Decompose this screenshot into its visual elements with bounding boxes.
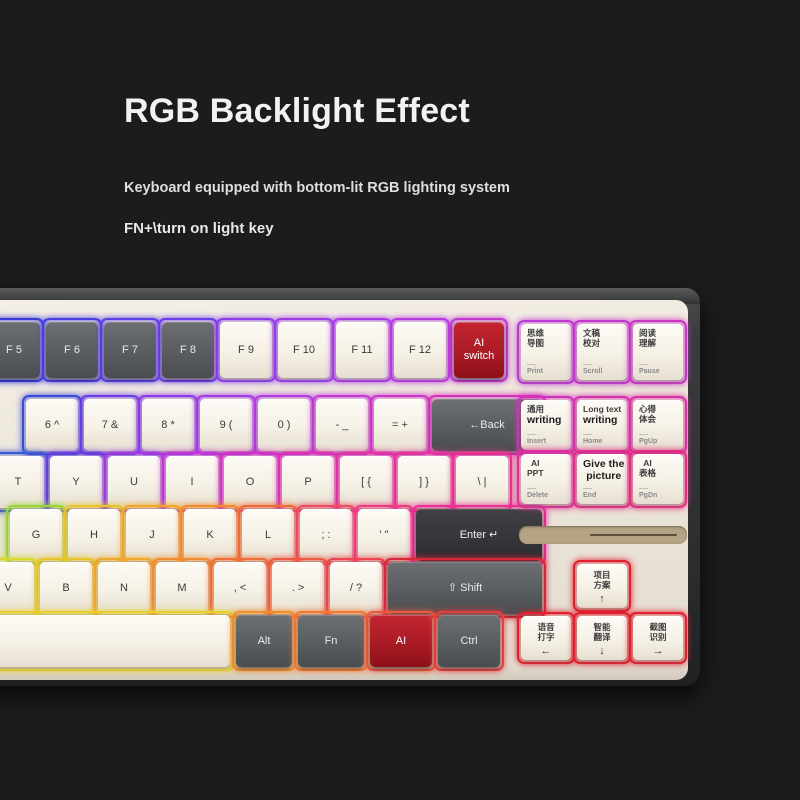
key-arrow-down-cn: 智能翻译 <box>593 623 610 642</box>
key-b[interactable]: B <box>40 562 92 614</box>
key-experience-divider <box>639 434 648 435</box>
key-k[interactable]: K <box>184 509 236 561</box>
key-mind-map[interactable]: 思维导图Print <box>521 324 571 380</box>
key-l-label: L <box>265 529 271 542</box>
key-7[interactable]: 7 & <box>84 399 136 451</box>
key-experience-legacy-label: PgUp <box>639 438 657 445</box>
key-quote[interactable]: ' " <box>358 509 410 561</box>
key-general-writing-divider <box>527 434 536 435</box>
key-mind-map-divider <box>527 364 536 365</box>
key-0-label: 0 ) <box>278 419 291 432</box>
key-m[interactable]: M <box>156 562 208 614</box>
key-j-label: J <box>149 529 155 542</box>
key-long-text-writing-legacy-label: Home <box>583 438 602 445</box>
page-title: RGB Backlight Effect <box>124 92 470 131</box>
key-comma-label: , < <box>234 582 247 595</box>
key-arrow-right-cn: 截图识别 <box>649 623 666 642</box>
key-8[interactable]: 8 * <box>142 399 194 451</box>
key-give-the-picture-en: Give thepicture <box>583 459 624 482</box>
key-ai-ppt-cn: AIPPT <box>527 459 544 478</box>
key-long-text-writing-divider <box>583 434 592 435</box>
key-backspace-label: ←Back <box>469 419 504 432</box>
key-give-the-picture-legacy-label: End <box>583 492 596 499</box>
key-period-label: . > <box>292 582 305 595</box>
key-backslash-label: \ | <box>478 476 487 489</box>
key-p-label: P <box>304 476 311 489</box>
key-period[interactable]: . > <box>272 562 324 614</box>
key-enter-label: Enter ↵ <box>460 529 499 542</box>
key-backslash[interactable]: \ | <box>456 456 508 508</box>
key-lbracket[interactable]: [ { <box>340 456 392 508</box>
shortcut-note-text: FN+\turn on light key <box>124 220 274 237</box>
key-shift-label: ⇧ Shift <box>448 582 482 595</box>
key-alt[interactable]: Alt <box>236 615 292 667</box>
key-fn-label: Fn <box>325 635 338 648</box>
key-f6[interactable]: F 6 <box>46 322 98 378</box>
key-i-label: I <box>190 476 193 489</box>
key-y[interactable]: Y <box>50 456 102 508</box>
subtitle-text: Keyboard equipped with bottom-lit RGB li… <box>124 180 510 196</box>
key-g-label: G <box>32 529 41 542</box>
key-f10[interactable]: F 10 <box>278 322 330 378</box>
key-f7[interactable]: F 7 <box>104 322 156 378</box>
key-6[interactable]: 6 ^ <box>26 399 78 451</box>
key-mind-map-cn: 思维导图 <box>527 329 544 348</box>
key-slash[interactable]: / ? <box>330 562 382 614</box>
key-arrow-down[interactable]: 智能翻译↓ <box>577 616 627 660</box>
key-ctrl[interactable]: Ctrl <box>438 615 500 667</box>
key-proofreading-divider <box>583 364 592 365</box>
key-h-label: H <box>90 529 98 542</box>
key-ai-label: AI <box>396 635 406 648</box>
key-f9-label: F 9 <box>238 344 254 357</box>
key-ai-table-divider <box>639 488 648 489</box>
key-arrow-left-glyph: ← <box>541 645 552 657</box>
key-0[interactable]: 0 ) <box>258 399 310 451</box>
key-long-text-writing[interactable]: Long textwritingHome <box>577 400 627 450</box>
key-f11-label: F 11 <box>351 344 372 357</box>
key-f5[interactable]: F 5 <box>0 322 40 378</box>
key-g[interactable]: G <box>10 509 62 561</box>
key-proofreading[interactable]: 文稿校对Scroll <box>577 324 627 380</box>
key-b-label: B <box>62 582 69 595</box>
key-arrow-up-glyph: ↑ <box>599 593 605 605</box>
key-j[interactable]: J <box>126 509 178 561</box>
key-n[interactable]: N <box>98 562 150 614</box>
speaker-grille <box>519 526 687 544</box>
key-o-label: O <box>246 476 255 489</box>
key-experience-cn: 心得体会 <box>639 405 656 424</box>
key-semicolon[interactable]: ; : <box>300 509 352 561</box>
key-f8-label: F 8 <box>180 344 196 357</box>
grille-slit <box>590 534 677 536</box>
key-ai-table[interactable]: AI表格PgDn <box>633 454 683 504</box>
key-t[interactable]: T <box>0 456 44 508</box>
key-9-label: 9 ( <box>220 419 233 432</box>
key-n-label: N <box>120 582 128 595</box>
key-rbracket[interactable]: ] } <box>398 456 450 508</box>
key-proofreading-cn: 文稿校对 <box>583 329 600 348</box>
key-i[interactable]: I <box>166 456 218 508</box>
key-m-label: M <box>177 582 186 595</box>
key-9[interactable]: 9 ( <box>200 399 252 451</box>
key-u-label: U <box>130 476 138 489</box>
key-ai-switch[interactable]: AIswitch <box>454 322 504 378</box>
key-arrow-up-cn: 项目方案 <box>593 571 610 590</box>
key-ai-table-cn: AI表格 <box>639 459 656 478</box>
key-mind-map-legacy-label: Print <box>527 368 543 375</box>
key-slash-label: / ? <box>350 582 362 595</box>
key-o[interactable]: O <box>224 456 276 508</box>
key-rbracket-label: ] } <box>419 476 429 489</box>
key-space[interactable] <box>0 615 230 667</box>
key-alt-label: Alt <box>258 635 271 648</box>
key-f12[interactable]: F 12 <box>394 322 446 378</box>
key-6-label: 6 ^ <box>45 419 59 432</box>
key-u[interactable]: U <box>108 456 160 508</box>
key-give-the-picture-divider <box>583 488 592 489</box>
key-general-writing[interactable]: 通用writingInsert <box>521 400 571 450</box>
key-f8[interactable]: F 8 <box>162 322 214 378</box>
key-shift[interactable]: ⇧ Shift <box>388 562 542 614</box>
key-f12-label: F 12 <box>409 344 431 357</box>
key-h[interactable]: H <box>68 509 120 561</box>
key-general-writing-en: writing <box>527 415 561 427</box>
key-ai-switch-label-top: AI <box>474 337 484 350</box>
key-ai-table-legacy-label: PgDn <box>639 492 657 499</box>
key-general-writing-legacy-label: Insert <box>527 438 546 445</box>
key-t-label: T <box>15 476 22 489</box>
key-quote-label: ' " <box>379 529 388 542</box>
key-ai-ppt-divider <box>527 488 536 489</box>
key-f7-label: F 7 <box>122 344 138 357</box>
key-f11[interactable]: F 11 <box>336 322 388 378</box>
key-y-label: Y <box>72 476 79 489</box>
key-fn[interactable]: Fn <box>298 615 364 667</box>
key-arrow-right-glyph: → <box>653 645 664 657</box>
key-minus-label: - _ <box>336 419 349 432</box>
key-reading-comprehension-legacy-label: Pause <box>639 368 660 375</box>
key-proofreading-legacy-label: Scroll <box>583 368 602 375</box>
key-f6-label: F 6 <box>64 344 80 357</box>
key-ai[interactable]: AI <box>370 615 432 667</box>
key-v-label: V <box>4 582 11 595</box>
key-reading-comprehension[interactable]: 阅读理解Pause <box>633 324 683 380</box>
key-p[interactable]: P <box>282 456 334 508</box>
key-minus[interactable]: - _ <box>316 399 368 451</box>
key-f5-label: F 5 <box>6 344 22 357</box>
key-semicolon-label: ; : <box>321 529 330 542</box>
key-ai-ppt-legacy-label: Delete <box>527 492 548 499</box>
key-8-label: 8 * <box>161 419 174 432</box>
key-comma[interactable]: , < <box>214 562 266 614</box>
screenshot-root: RGB Backlight Effect Keyboard equipped w… <box>0 0 800 800</box>
key-v[interactable]: V <box>0 562 34 614</box>
key-ctrl-label: Ctrl <box>460 635 477 648</box>
key-reading-comprehension-divider <box>639 364 648 365</box>
key-reading-comprehension-cn: 阅读理解 <box>639 329 656 348</box>
key-ai-switch-label-bottom: switch <box>464 350 495 363</box>
key-arrow-down-glyph: ↓ <box>599 645 605 657</box>
key-long-text-writing-en: writing <box>583 415 617 427</box>
key-k-label: K <box>206 529 213 542</box>
key-equal-label: = + <box>392 419 408 432</box>
key-f10-label: F 10 <box>293 344 315 357</box>
key-arrow-right[interactable]: 截图识别→ <box>633 616 683 660</box>
key-7-label: 7 & <box>102 419 119 432</box>
key-arrow-left-cn: 语音打字 <box>537 623 554 642</box>
key-experience[interactable]: 心得体会PgUp <box>633 400 683 450</box>
key-give-the-picture[interactable]: Give thepictureEnd <box>577 454 627 504</box>
key-equal[interactable]: = + <box>374 399 426 451</box>
key-arrow-up[interactable]: 项目方案↑ <box>577 564 627 608</box>
key-l[interactable]: L <box>242 509 294 561</box>
key-ai-ppt[interactable]: AIPPTDelete <box>521 454 571 504</box>
key-lbracket-label: [ { <box>361 476 371 489</box>
key-f9[interactable]: F 9 <box>220 322 272 378</box>
key-arrow-left[interactable]: 语音打字← <box>521 616 571 660</box>
